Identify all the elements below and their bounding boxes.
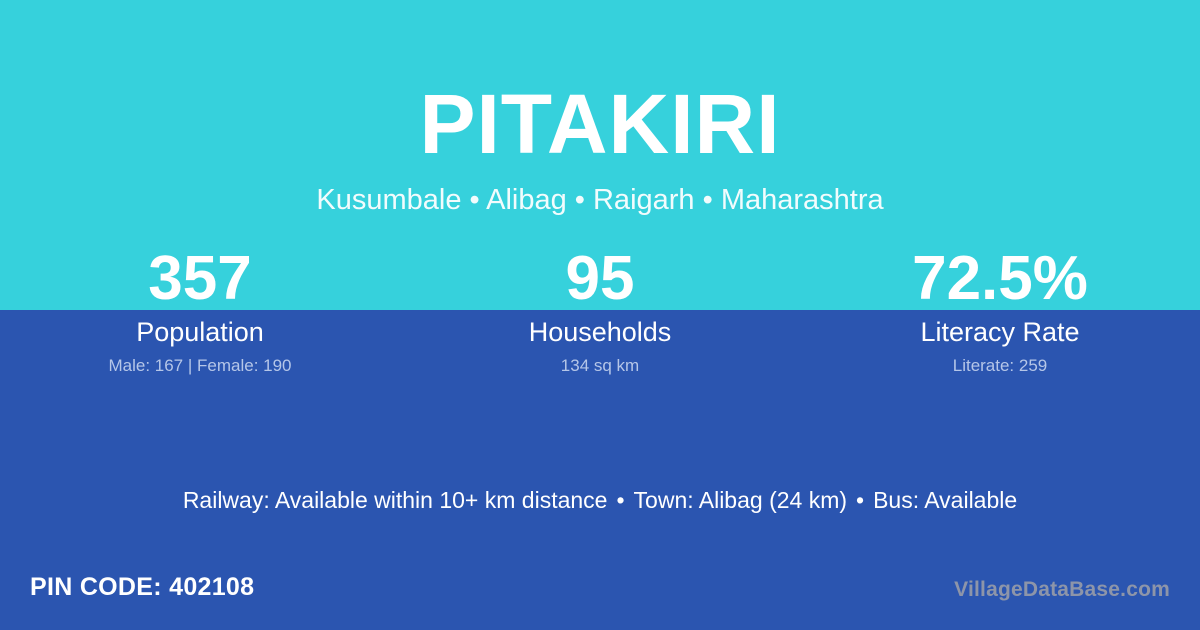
village-info-card: PITAKIRI Kusumbale • Alibag • Raigarh • … [0,0,1200,630]
stat-label: Population [0,316,400,348]
stat-value: 72.5% [800,248,1200,310]
infrastructure-line: Railway: Available within 10+ km distanc… [0,485,1200,515]
town-info: Town: Alibag (24 km) [634,487,847,513]
stat-population: 357 Population Male: 167 | Female: 190 [0,248,400,376]
stats-row: 357 Population Male: 167 | Female: 190 9… [0,248,1200,376]
stat-literacy-rate: 72.5% Literacy Rate Literate: 259 [800,248,1200,376]
pin-code: PIN CODE: 402108 [30,572,254,602]
card-header: PITAKIRI Kusumbale • Alibag • Raigarh • … [0,0,1200,215]
card-footer: PIN CODE: 402108 VillageDataBase.com [0,560,1200,630]
stat-sublabel: Male: 167 | Female: 190 [0,356,400,376]
railway-info: Railway: Available within 10+ km distanc… [183,487,608,513]
page-title: PITAKIRI [0,0,1200,166]
stat-label: Households [400,316,800,348]
stat-households: 95 Households 134 sq km [400,248,800,376]
site-brand: VillageDataBase.com [954,576,1170,604]
bullet-separator-icon: • [847,487,873,513]
breadcrumb: Kusumbale • Alibag • Raigarh • Maharasht… [0,166,1200,215]
bus-info: Bus: Available [873,487,1017,513]
stat-label: Literacy Rate [800,316,1200,348]
stat-sublabel: 134 sq km [400,356,800,376]
stat-value: 357 [0,248,400,310]
stat-sublabel: Literate: 259 [800,356,1200,376]
bullet-separator-icon: • [607,487,633,513]
stat-value: 95 [400,248,800,310]
